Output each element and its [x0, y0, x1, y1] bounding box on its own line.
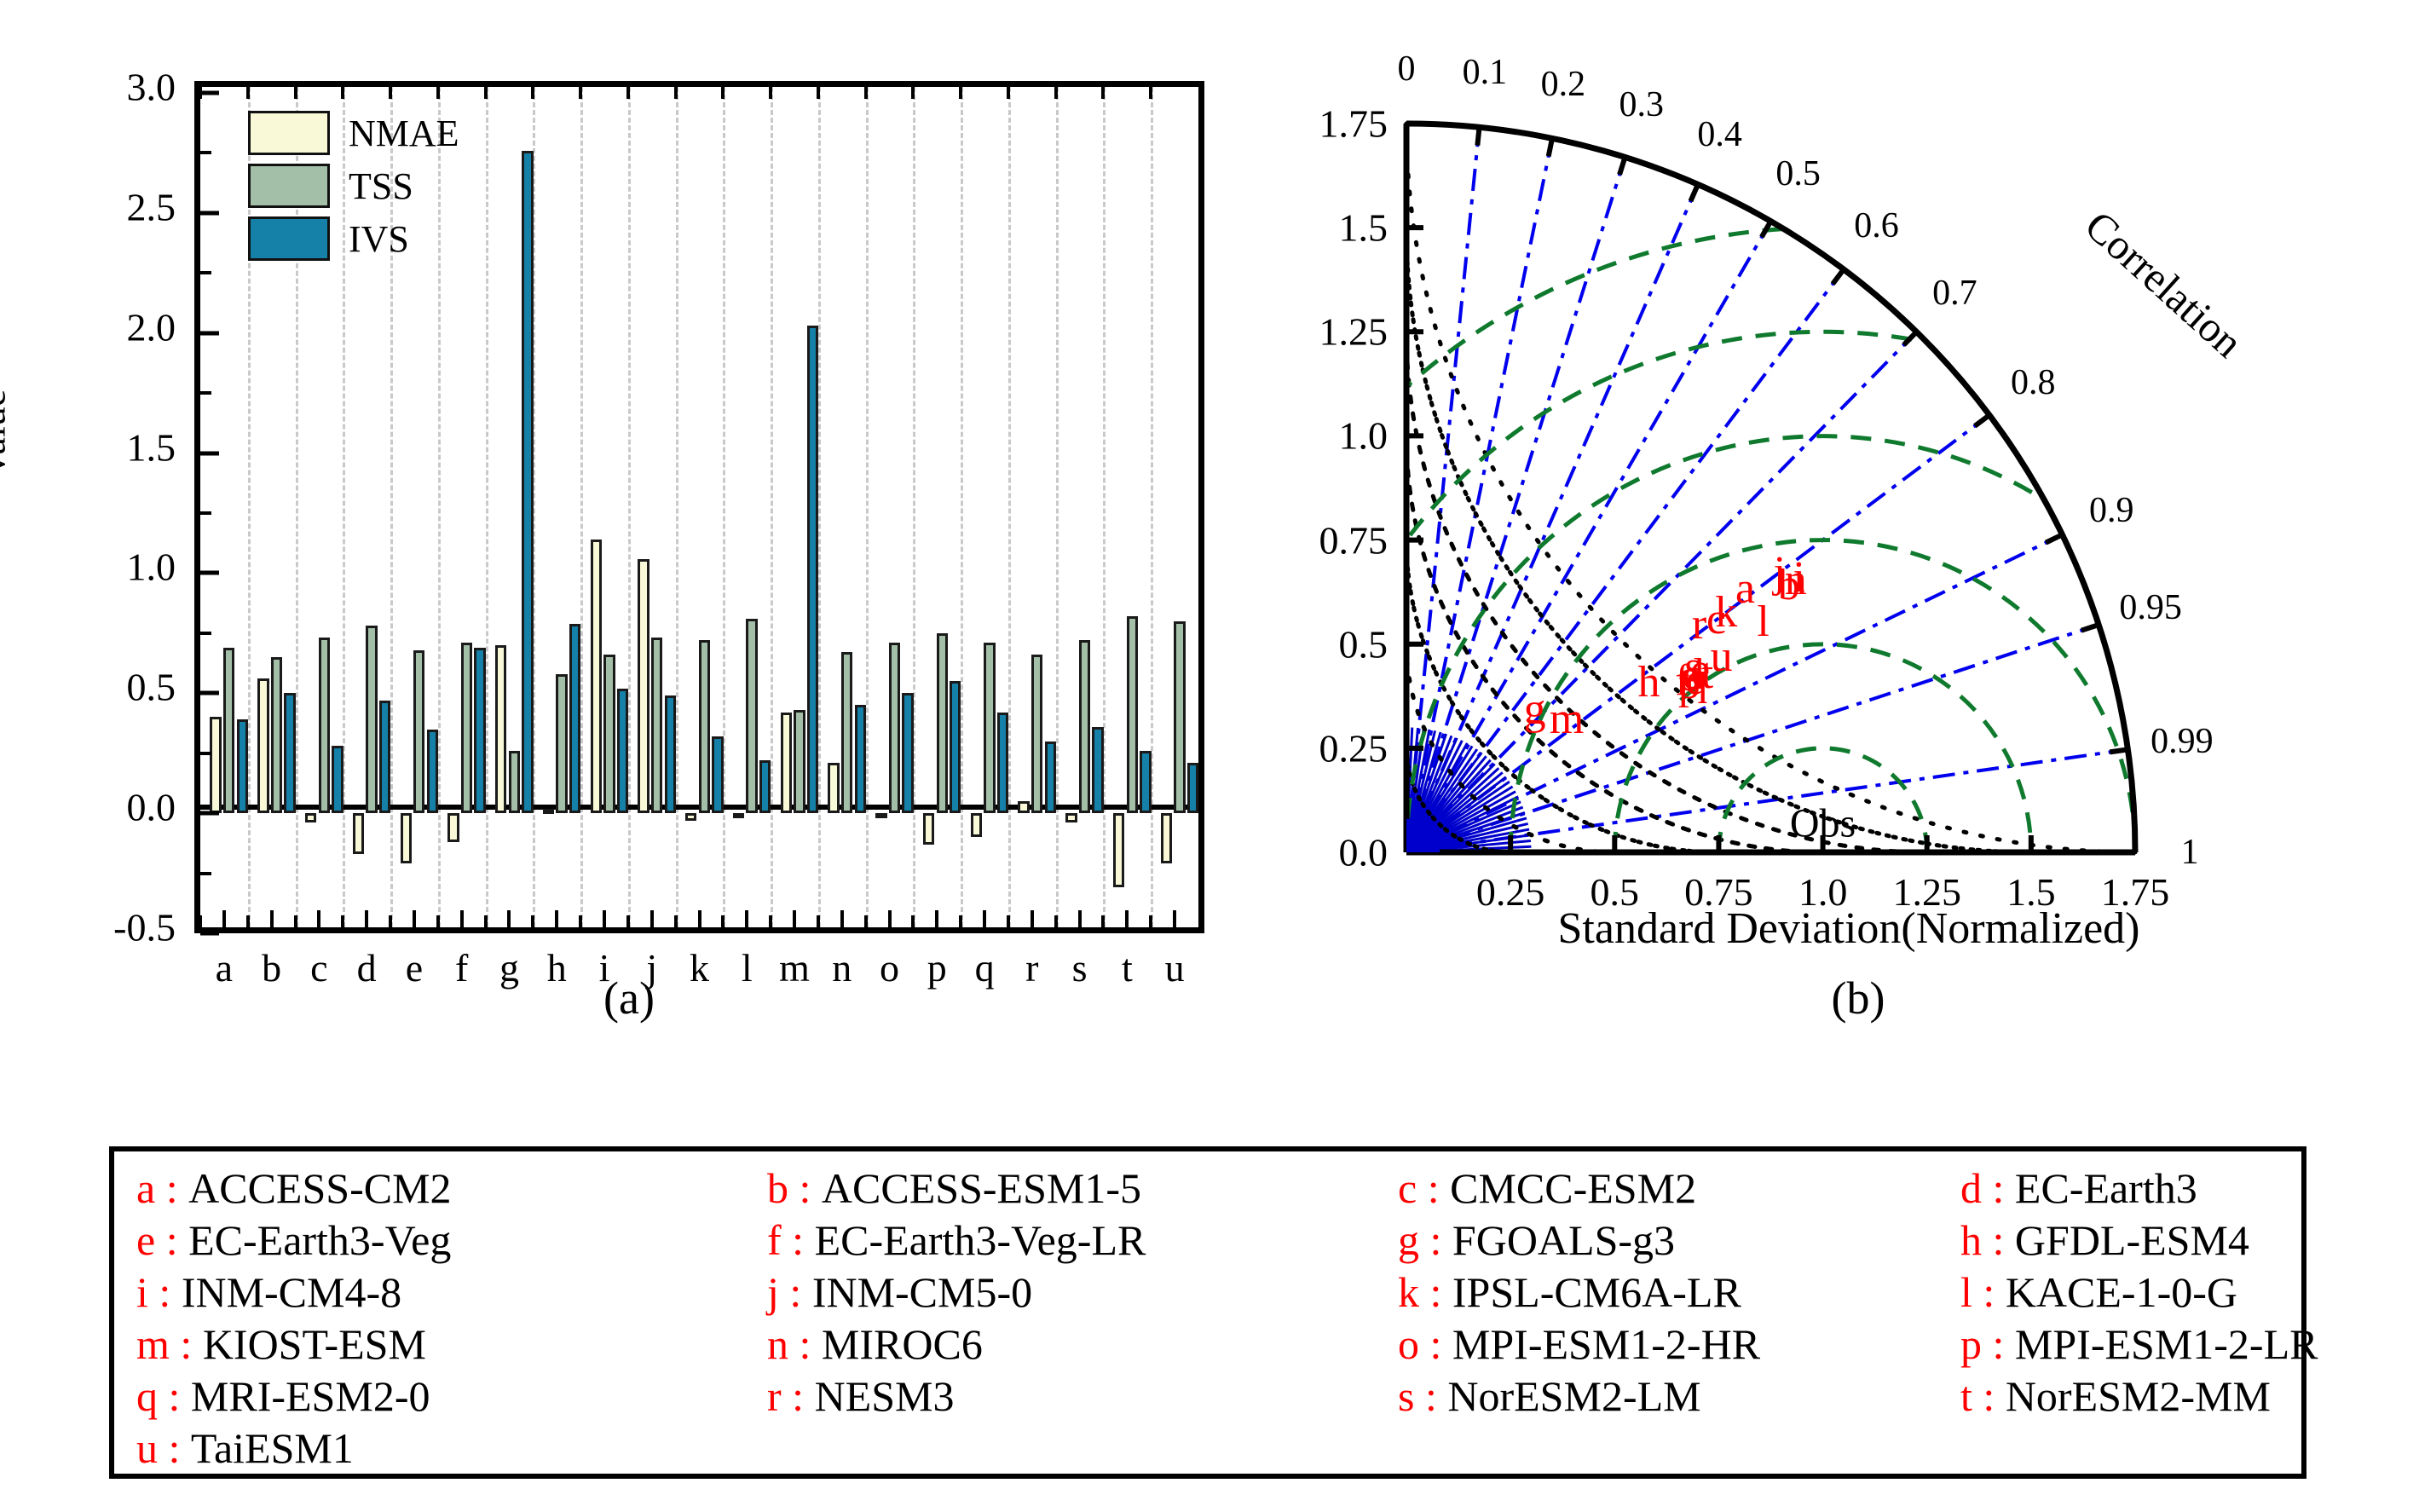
bar-f-tss: [461, 643, 472, 813]
model-legend-key: h: [1960, 1216, 1982, 1264]
model-legend-name: NESM3: [815, 1372, 955, 1420]
x-tick-boundary-mark: [294, 915, 297, 927]
x-tick-top-mark: [389, 87, 392, 99]
x-tick-mark: [983, 910, 986, 927]
x-tick-top-mark: [911, 87, 915, 99]
model-legend-separator: :: [1417, 1164, 1450, 1212]
model-legend-key: p: [1960, 1320, 1982, 1368]
obs-reference-label: Obs: [1790, 800, 1856, 847]
y-tick-label: 2.5: [127, 184, 176, 229]
taylor-marker-k: k: [1715, 591, 1737, 635]
x-tick-boundary-mark: [959, 915, 962, 927]
taylor-marker-n: n: [1785, 558, 1807, 603]
y-tick-label: 3.0: [127, 65, 176, 110]
bar-s-nmae: [1065, 813, 1077, 822]
model-legend-entry-b: b : ACCESS-ESM1-5: [767, 1163, 1398, 1214]
x-tick-top-mark: [1149, 87, 1152, 99]
taylor-radial-tick-label: 0.0: [1339, 830, 1388, 875]
taylor-corr-tick-label: 0.9: [2089, 490, 2134, 531]
x-tick-mark: [270, 910, 274, 927]
model-legend-key: u: [136, 1424, 158, 1472]
x-tick-label: s: [1072, 945, 1088, 990]
x-tick-top-mark: [1007, 87, 1010, 99]
bar-i-nmae: [591, 540, 602, 813]
x-tick-mark: [1031, 910, 1034, 927]
bar-o-nmae: [875, 813, 886, 818]
x-tick-label: d: [357, 945, 377, 990]
model-legend-name: EC-Earth3: [2015, 1164, 2197, 1212]
x-tick-boundary-mark: [579, 915, 582, 927]
model-legend-separator: :: [1419, 1216, 1452, 1264]
y-tick-mark: [200, 331, 219, 335]
taylor-corr-tick: [2110, 749, 2127, 752]
x-tick-top-mark: [341, 87, 344, 99]
x-tick-mark: [698, 910, 701, 927]
bar-k-nmae: [685, 813, 696, 820]
legend-label: IVS: [349, 217, 409, 261]
model-legend-entry-o: o : MPI-ESM1-2-HR: [1398, 1319, 1960, 1370]
x-tick-boundary-mark: [864, 915, 868, 927]
model-legend-name: MRI-ESM2-0: [191, 1372, 430, 1420]
bar-c-tss: [319, 638, 330, 813]
bar-p-tss: [937, 633, 948, 813]
model-legend-entry-a: a : ACCESS-CM2: [136, 1163, 767, 1214]
x-tick-mark: [603, 910, 606, 927]
model-legend-separator: :: [158, 1424, 191, 1472]
model-legend-entry-c: c : CMCC-ESM2: [1398, 1163, 1960, 1214]
y-tick-mark: [200, 91, 219, 95]
x-tick-mark: [1125, 910, 1129, 927]
vertical-gridline: [533, 87, 535, 927]
model-legend-entry-s: s : NorESM2-LM: [1398, 1371, 1960, 1422]
model-legend-entry-g: g : FGOALS-g3: [1398, 1215, 1960, 1266]
model-legend-key: c: [1398, 1164, 1417, 1212]
model-legend-entry-t: t : NorESM2-MM: [1960, 1371, 2419, 1422]
bar-s-tss: [1079, 640, 1090, 813]
taylor-corr-tick-label: 1: [2181, 832, 2199, 873]
x-tick-mark: [413, 910, 416, 927]
bar-u-ivs: [1187, 763, 1198, 813]
taylor-corr-tick: [1833, 269, 1844, 284]
y-tick-label: 0.0: [127, 785, 176, 830]
x-tick-label: c: [310, 945, 327, 990]
bar-d-tss: [366, 626, 377, 813]
std-dev-guide-arc: [1406, 228, 2031, 852]
x-tick-label: b: [262, 945, 281, 990]
model-legend-name: MIROC6: [822, 1320, 983, 1368]
x-tick-label: n: [832, 945, 852, 990]
x-tick-top-mark: [959, 87, 962, 99]
model-legend-entry-j: j : INM-CM5-0: [767, 1267, 1398, 1318]
model-legend-key: d: [1960, 1164, 1982, 1212]
taylor-radial-tick-label: 0.25: [1319, 725, 1388, 770]
bar-n-nmae: [828, 763, 839, 813]
taylor-marker-s: s: [1684, 645, 1701, 690]
x-tick-label: h: [547, 945, 567, 990]
bar-c-ivs: [332, 746, 343, 813]
x-tick-label: l: [742, 945, 753, 990]
y-tick-mark: [200, 211, 219, 215]
model-legend-separator: :: [155, 1164, 188, 1212]
model-legend-name: EC-Earth3-Veg: [188, 1216, 451, 1264]
model-legend-separator: :: [1419, 1268, 1452, 1316]
y-tick-minor: [200, 271, 211, 274]
model-legend-name: INM-CM5-0: [812, 1268, 1032, 1316]
model-legend-entry-u: u : TaiESM1: [136, 1423, 767, 1474]
model-legend-key: n: [767, 1320, 788, 1368]
x-tick-top-mark: [436, 87, 440, 99]
x-tick-top-mark: [817, 87, 820, 99]
bar-k-tss: [699, 640, 710, 813]
bar-q-ivs: [997, 713, 1008, 813]
legend-swatch-nmae: [248, 111, 330, 155]
model-legend-separator: :: [1419, 1320, 1452, 1368]
x-tick-mark: [840, 910, 844, 927]
taylor-corr-tick: [1975, 415, 1989, 426]
bar-r-ivs: [1045, 742, 1056, 814]
std-dev-arc: [1406, 228, 2031, 852]
y-tick-minor: [200, 872, 211, 875]
x-tick-label: k: [690, 945, 709, 990]
x-tick-mark: [1078, 910, 1082, 927]
vertical-gridline: [580, 87, 583, 927]
legend-row-ivs: IVS: [248, 216, 529, 261]
model-legend-name: MPI-ESM1-2-LR: [2015, 1320, 2318, 1368]
bar-n-tss: [841, 652, 852, 813]
x-tick-boundary-mark: [531, 915, 534, 927]
model-legend-name: KIOST-ESM: [203, 1320, 426, 1368]
bar-j-tss: [651, 638, 662, 813]
bar-e-tss: [413, 650, 424, 814]
bar-k-ivs: [712, 736, 723, 813]
bar-n-ivs: [855, 705, 866, 813]
taylor-corr-tick: [2046, 534, 2062, 542]
x-tick-boundary-mark: [436, 915, 440, 927]
legend-swatch-ivs: [248, 216, 330, 261]
x-tick-boundary-mark: [246, 915, 250, 927]
model-legend-name: IPSL-CM6A-LR: [1452, 1268, 1741, 1316]
model-legend-name: NorESM2-MM: [2006, 1372, 2271, 1420]
taylor-marker-m: m: [1550, 697, 1584, 742]
bar-p-ivs: [950, 681, 961, 813]
model-legend-separator: :: [782, 1372, 815, 1420]
bar-q-tss: [984, 643, 995, 813]
model-legend-key: m: [136, 1320, 170, 1368]
model-legend-separator: :: [1414, 1372, 1447, 1420]
model-legend-name: MPI-ESM1-2-HR: [1452, 1320, 1760, 1368]
taylor-radial-tick-label: 1.75: [1319, 101, 1388, 147]
vertical-gridline: [1056, 87, 1059, 927]
x-tick-top-mark: [531, 87, 534, 99]
model-legend-key: s: [1398, 1372, 1414, 1420]
model-legend-separator: :: [1982, 1320, 2015, 1368]
x-tick-boundary-mark: [1007, 915, 1010, 927]
bar-h-tss: [556, 674, 567, 813]
taylor-corr-tick-label: 0.6: [1854, 205, 1899, 246]
x-tick-label: f: [455, 945, 468, 990]
y-tick-minor: [200, 752, 211, 755]
model-legend-entry-h: h : GFDL-ESM4: [1960, 1215, 2419, 1266]
taylor-radial-tick-label: 1.0: [1339, 413, 1388, 459]
bar-u-tss: [1174, 621, 1185, 813]
taylor-corr-tick: [1690, 184, 1698, 201]
taylor-corr-tick-label: 0.7: [1932, 273, 1977, 314]
x-tick-mark: [317, 910, 320, 927]
model-legend-entry-m: m : KIOST-ESM: [136, 1319, 767, 1370]
panel-b-taylor-diagram: 0.00.250.50.751.01.251.51.75 0.250.50.75…: [1279, 0, 2419, 1048]
x-tick-mark: [365, 910, 368, 927]
vertical-gridline: [1008, 87, 1011, 927]
model-legend-separator: :: [782, 1216, 815, 1264]
model-legend-separator: :: [1982, 1216, 2015, 1264]
bar-q-nmae: [971, 813, 982, 837]
x-tick-label: g: [499, 945, 519, 990]
x-tick-boundary-mark: [911, 915, 915, 927]
model-legend-entry-d: d : EC-Earth3: [1960, 1163, 2419, 1214]
taylor-radial-tick-label: 0.5: [1339, 621, 1388, 667]
panel-b-caption: (b): [1832, 972, 1885, 1024]
bar-b-nmae: [257, 678, 268, 813]
y-tick-minor: [200, 391, 211, 395]
x-tick-boundary-mark: [341, 915, 344, 927]
x-tick-top-mark: [721, 87, 725, 99]
model-legend-name: ACCESS-CM2: [188, 1164, 451, 1212]
model-legend-key: g: [1398, 1216, 1419, 1264]
model-legend-separator: :: [788, 1164, 822, 1212]
x-tick-label: a: [216, 945, 233, 990]
x-tick-top-mark: [294, 87, 297, 99]
vertical-gridline: [913, 87, 915, 927]
model-legend-separator: :: [1972, 1372, 2006, 1420]
bar-a-ivs: [237, 719, 248, 813]
bar-i-ivs: [617, 689, 628, 813]
model-legend-key: o: [1398, 1320, 1419, 1368]
bar-p-nmae: [923, 813, 934, 845]
x-tick-mark: [650, 910, 654, 927]
taylor-marker-h: h: [1637, 661, 1660, 705]
model-legend-entry-n: n : MIROC6: [767, 1319, 1398, 1370]
model-legend-name: ACCESS-ESM1-5: [822, 1164, 1141, 1212]
model-legend-key: r: [767, 1372, 782, 1420]
taylor-marker-u: u: [1711, 635, 1733, 679]
taylor-marker-l: l: [1757, 600, 1769, 644]
x-tick-label: t: [1122, 945, 1133, 990]
model-legend-entry-r: r : NESM3: [767, 1371, 1398, 1422]
model-key-grid: a : ACCESS-CM2b : ACCESS-ESM1-5c : CMCC-…: [136, 1163, 2279, 1474]
bar-m-ivs: [807, 326, 818, 813]
bar-s-ivs: [1092, 727, 1103, 813]
bar-h-ivs: [569, 624, 580, 814]
bar-e-ivs: [427, 730, 438, 814]
taylor-radial-tick-label: 1.25: [1319, 309, 1388, 355]
x-tick-label: p: [927, 945, 947, 990]
model-legend-key: l: [1960, 1268, 1972, 1316]
x-tick-boundary-mark: [484, 915, 488, 927]
x-tick-top-mark: [864, 87, 868, 99]
x-tick-boundary-mark: [1149, 915, 1152, 927]
taylor-std-tick-label: 0.25: [1476, 869, 1545, 915]
model-legend-separator: :: [1982, 1164, 2015, 1212]
model-legend-separator: :: [148, 1268, 182, 1316]
x-tick-boundary-mark: [389, 915, 392, 927]
taylor-corr-tick-label: 0.99: [2151, 721, 2214, 762]
bar-o-ivs: [902, 693, 913, 813]
model-legend-name: GFDL-ESM4: [2015, 1216, 2249, 1264]
legend-row-tss: TSS: [248, 164, 529, 208]
model-legend-key: f: [767, 1216, 782, 1264]
model-legend-name: KACE-1-0-G: [2006, 1268, 2237, 1316]
y-tick-minor: [200, 151, 211, 154]
x-tick-mark: [935, 910, 938, 927]
y-axis-title: value: [0, 390, 14, 475]
vertical-gridline: [1103, 87, 1106, 927]
bar-m-nmae: [781, 713, 792, 813]
model-legend-entry-f: f : EC-Earth3-Veg-LR: [767, 1215, 1398, 1266]
x-tick-top-mark: [1101, 87, 1105, 99]
x-tick-label: u: [1165, 945, 1185, 990]
vertical-gridline: [628, 87, 631, 927]
x-tick-mark: [460, 910, 464, 927]
taylor-corr-tick-label: 0: [1398, 49, 1416, 89]
x-tick-boundary-mark: [817, 915, 820, 927]
x-tick-top-mark: [769, 87, 772, 99]
taylor-radial-tick-label: 1.5: [1339, 205, 1388, 251]
vertical-gridline: [818, 87, 821, 927]
model-legend-key: b: [767, 1164, 788, 1212]
model-legend-entry-l: l : KACE-1-0-G: [1960, 1267, 2419, 1318]
model-legend-name: CMCC-ESM2: [1450, 1164, 1696, 1212]
bar-f-ivs: [474, 648, 485, 813]
y-tick-mark: [200, 451, 219, 455]
vertical-gridline: [1151, 87, 1153, 927]
bar-t-ivs: [1140, 751, 1151, 813]
model-legend-key: e: [136, 1216, 155, 1264]
model-legend-name: TaiESM1: [191, 1424, 354, 1472]
model-legend-entry-k: k : IPSL-CM6A-LR: [1398, 1267, 1960, 1318]
bar-plot-area: NMAETSSIVS: [194, 81, 1204, 933]
x-tick-mark: [888, 910, 892, 927]
taylor-corr-tick: [1619, 157, 1625, 174]
model-legend-key: a: [136, 1164, 155, 1212]
taylor-corr-tick-label: 0.1: [1463, 52, 1508, 93]
x-tick-mark: [555, 910, 558, 927]
bar-a-nmae: [210, 717, 221, 813]
model-legend-key: q: [136, 1372, 158, 1420]
bar-l-ivs: [759, 760, 771, 813]
bar-h-nmae: [543, 809, 554, 814]
bar-l-nmae: [733, 813, 744, 818]
model-legend-entry-p: p : MPI-ESM1-2-LR: [1960, 1319, 2419, 1370]
model-legend-entry-i: i : INM-CM4-8: [136, 1267, 767, 1318]
x-tick-boundary-mark: [674, 915, 678, 927]
model-legend-key: k: [1398, 1268, 1419, 1316]
std-deviation-axis-title: Standard Deviation(Normalized): [1558, 903, 2140, 954]
bar-g-tss: [509, 751, 520, 813]
y-tick-label: 1.0: [127, 545, 176, 590]
x-tick-mark: [745, 910, 748, 927]
bar-j-ivs: [665, 695, 676, 813]
bar-c-nmae: [305, 813, 316, 822]
legend-label: TSS: [349, 164, 413, 208]
legend-label: NMAE: [349, 112, 459, 155]
vertical-gridline: [771, 87, 773, 927]
bar-a-tss: [223, 648, 234, 813]
y-tick-mark: [200, 932, 219, 936]
panel-a-bar-chart: value 3.02.52.01.51.00.50.0-0.5 NMAETSSI…: [0, 0, 1279, 1048]
taylor-corr-tick: [1477, 127, 1479, 145]
bar-r-nmae: [1018, 801, 1029, 813]
bar-e-nmae: [401, 813, 412, 863]
vertical-gridline: [676, 87, 678, 927]
x-tick-boundary-mark: [1054, 915, 1058, 927]
bar-b-tss: [271, 657, 282, 813]
model-legend-separator: :: [155, 1216, 188, 1264]
taylor-corr-tick-label: 0.4: [1697, 114, 1742, 155]
taylor-radial-tick-label: 0.75: [1319, 517, 1388, 563]
x-tick-top-mark: [579, 87, 582, 99]
model-legend-entry-q: q : MRI-ESM2-0: [136, 1371, 767, 1422]
bar-t-tss: [1127, 616, 1138, 813]
y-tick-mark: [200, 571, 219, 575]
x-tick-label: o: [880, 945, 899, 990]
y-tick-label: 1.5: [127, 424, 176, 470]
x-tick-mark: [1173, 910, 1176, 927]
y-tick-label: -0.5: [113, 905, 176, 950]
x-tick-boundary-mark: [626, 915, 630, 927]
x-tick-label: q: [975, 945, 995, 990]
taylor-marker-g: g: [1524, 688, 1546, 732]
model-legend-name: NorESM2-LM: [1447, 1372, 1700, 1420]
x-tick-top-mark: [626, 87, 630, 99]
model-legend-entry-e: e : EC-Earth3-Veg: [136, 1215, 767, 1266]
x-tick-mark: [793, 910, 796, 927]
model-legend-separator: :: [779, 1268, 812, 1316]
series-legend: NMAETSSIVS: [248, 111, 529, 269]
x-tick-boundary-mark: [199, 915, 202, 927]
model-legend-key: t: [1960, 1372, 1972, 1420]
taylor-corr-tick-label: 0.5: [1775, 153, 1821, 194]
x-tick-boundary-mark: [769, 915, 772, 927]
vertical-gridline: [961, 87, 963, 927]
model-key-legend-box: a : ACCESS-CM2b : ACCESS-ESM1-5c : CMCC-…: [109, 1146, 2306, 1479]
bar-b-ivs: [284, 693, 295, 813]
bar-l-tss: [746, 619, 757, 813]
model-legend-separator: :: [1972, 1268, 2006, 1316]
vertical-gridline: [723, 87, 725, 927]
taylor-corr-tick-label: 0.95: [2119, 587, 2182, 628]
model-legend-name: EC-Earth3-Veg-LR: [815, 1216, 1146, 1264]
vertical-gridline: [866, 87, 869, 927]
y-tick-minor: [200, 632, 211, 635]
x-tick-boundary-mark: [1101, 915, 1105, 927]
bar-d-ivs: [379, 701, 390, 813]
model-legend-separator: :: [170, 1320, 203, 1368]
x-tick-boundary-mark: [721, 915, 725, 927]
taylor-marker-a: a: [1735, 567, 1755, 611]
y-tick-mark: [200, 691, 219, 695]
bar-t-nmae: [1113, 813, 1124, 887]
y-tick-label: 2.0: [127, 304, 176, 349]
model-legend-key: i: [136, 1268, 148, 1316]
y-tick-minor: [200, 511, 211, 515]
y-tick-label: 0.5: [127, 665, 176, 710]
taylor-corr-tick-label: 0.2: [1541, 64, 1586, 105]
y-tick-mark: [200, 811, 219, 816]
x-tick-top-mark: [674, 87, 678, 99]
panel-a-caption: (a): [603, 972, 655, 1024]
model-legend-name: INM-CM4-8: [182, 1268, 401, 1316]
x-tick-mark: [507, 910, 511, 927]
